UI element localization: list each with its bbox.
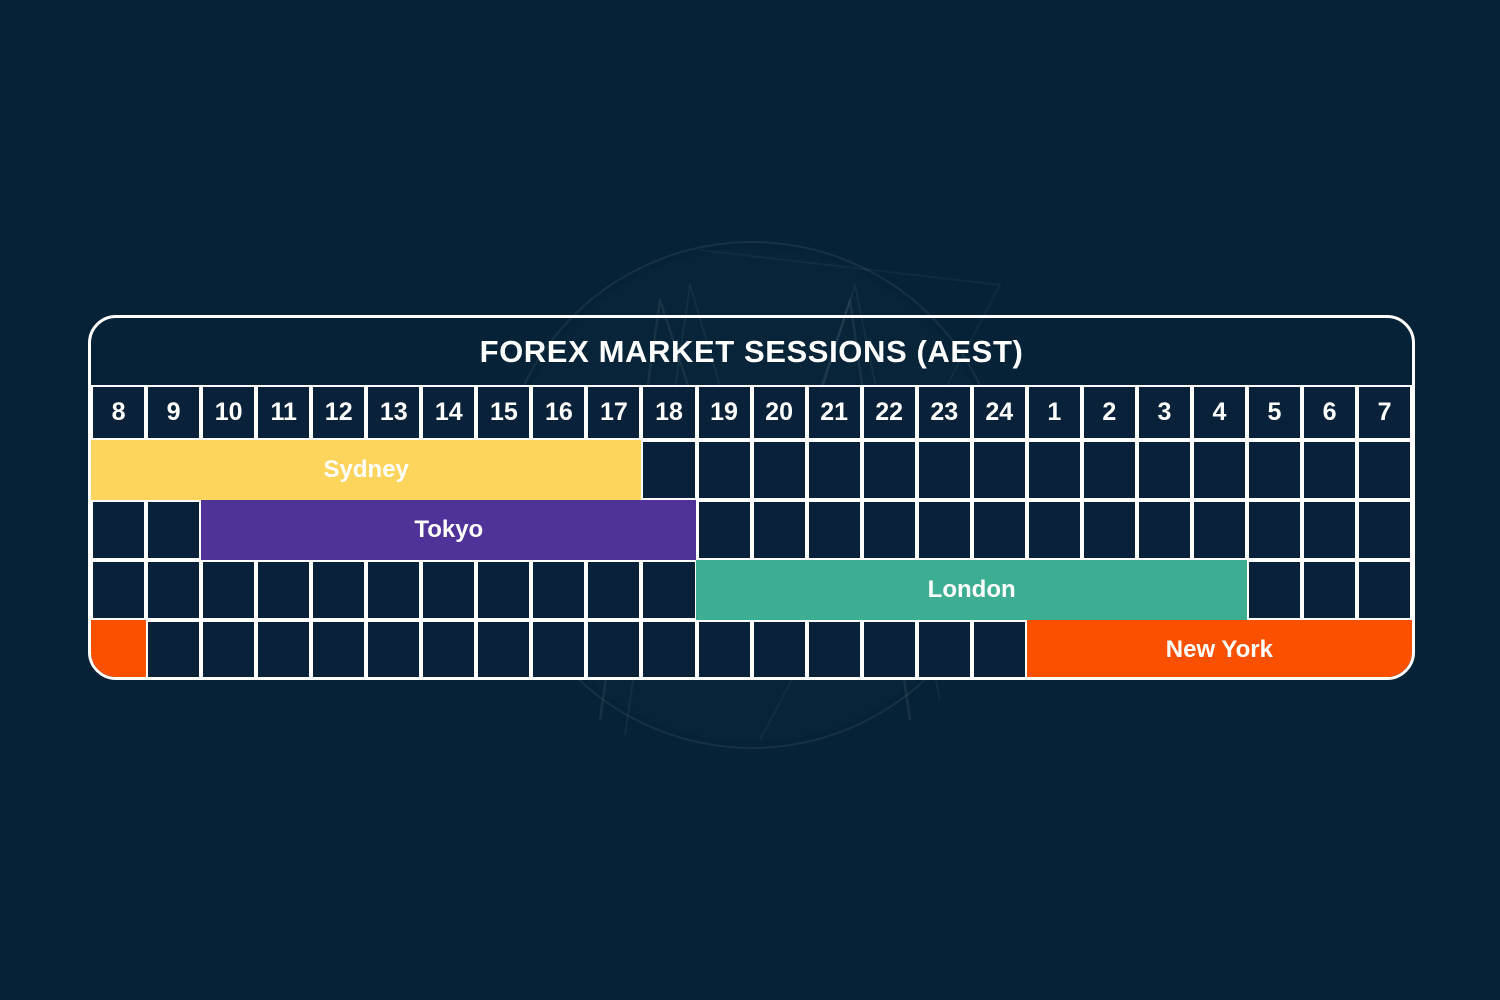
hour-header-cell: 9 xyxy=(146,385,201,440)
grid-cell xyxy=(1357,440,1412,500)
grid-cell xyxy=(972,500,1027,560)
session-bar-label: New York xyxy=(1166,636,1273,664)
grid-cell xyxy=(972,440,1027,500)
grid-cell xyxy=(917,500,972,560)
grid-cell xyxy=(641,440,696,500)
grid-cell xyxy=(146,620,201,680)
grid-cell xyxy=(91,500,146,560)
hour-header-cell: 23 xyxy=(917,385,972,440)
hour-header-cell: 8 xyxy=(91,385,146,440)
grid-cell xyxy=(531,620,586,680)
grid-cell xyxy=(1137,440,1192,500)
grid-cell xyxy=(421,620,476,680)
hour-header-cell: 1 xyxy=(1027,385,1082,440)
hour-header-cell: 6 xyxy=(1302,385,1357,440)
grid-cell xyxy=(697,440,752,500)
grid-cell xyxy=(311,620,366,680)
grid-cell xyxy=(641,620,696,680)
hour-header-cell: 20 xyxy=(752,385,807,440)
hour-header-cell: 22 xyxy=(862,385,917,440)
grid-cell xyxy=(917,440,972,500)
grid-cell xyxy=(641,560,696,620)
grid-cell xyxy=(1302,500,1357,560)
hour-header-cell: 7 xyxy=(1357,385,1412,440)
hour-header-cell: 13 xyxy=(366,385,421,440)
grid-cell xyxy=(586,620,641,680)
grid-cell xyxy=(1082,440,1137,500)
hour-header-cell: 21 xyxy=(807,385,862,440)
hour-header-cell: 18 xyxy=(641,385,696,440)
grid-cell xyxy=(697,620,752,680)
grid-cell xyxy=(1027,500,1082,560)
grid-cell xyxy=(531,560,586,620)
page-title: FOREX MARKET SESSIONS (AEST) xyxy=(91,318,1412,385)
grid-cell xyxy=(972,620,1027,680)
grid-cell xyxy=(1302,560,1357,620)
grid-cell xyxy=(586,560,641,620)
grid-cell xyxy=(1357,560,1412,620)
hour-header-cell: 19 xyxy=(697,385,752,440)
grid-cell xyxy=(256,560,311,620)
hour-header-cell: 5 xyxy=(1247,385,1302,440)
grid-cell xyxy=(862,440,917,500)
session-bar-sydney[interactable]: Sydney xyxy=(91,440,641,500)
session-bar-london[interactable]: London xyxy=(696,560,1246,620)
grid-cell xyxy=(476,620,531,680)
grid-cell xyxy=(256,620,311,680)
session-bar-label: London xyxy=(928,576,1016,604)
hour-header-cell: 15 xyxy=(476,385,531,440)
hour-header-cell: 3 xyxy=(1137,385,1192,440)
hour-header-cell: 10 xyxy=(201,385,256,440)
grid-cell xyxy=(201,620,256,680)
hour-header-cell: 17 xyxy=(586,385,641,440)
grid-cell xyxy=(862,620,917,680)
grid-cell xyxy=(697,500,752,560)
grid-cell xyxy=(1137,500,1192,560)
grid-cell xyxy=(1247,500,1302,560)
hour-header-cell: 2 xyxy=(1082,385,1137,440)
hour-header-cell: 16 xyxy=(531,385,586,440)
grid-cell xyxy=(752,500,807,560)
grid-cell xyxy=(1357,500,1412,560)
hour-header-cell: 11 xyxy=(256,385,311,440)
grid-cell xyxy=(752,440,807,500)
session-bar-new-york[interactable]: New York xyxy=(1027,620,1412,680)
grid-cell xyxy=(752,620,807,680)
grid-cell xyxy=(1247,560,1302,620)
grid-cell xyxy=(1302,440,1357,500)
hour-header-row: 891011121314151617181920212223241234567 xyxy=(91,385,1412,440)
grid-cell xyxy=(1192,440,1247,500)
session-bar-label: Sydney xyxy=(324,456,409,484)
session-bar-new-york[interactable] xyxy=(91,620,146,680)
session-bar-label: Tokyo xyxy=(414,516,483,544)
grid-cell xyxy=(1247,440,1302,500)
grid-cell xyxy=(807,620,862,680)
grid-cell xyxy=(421,560,476,620)
grid-cell xyxy=(1192,500,1247,560)
hour-header-cell: 4 xyxy=(1192,385,1247,440)
grid-cell xyxy=(311,560,366,620)
hour-header-cell: 12 xyxy=(311,385,366,440)
grid-cell xyxy=(1027,440,1082,500)
grid-cell xyxy=(366,620,421,680)
grid-cell xyxy=(917,620,972,680)
hour-header-cell: 14 xyxy=(421,385,476,440)
grid-cell xyxy=(366,560,421,620)
sessions-grid: 891011121314151617181920212223241234567 … xyxy=(91,385,1412,680)
grid-cell xyxy=(201,560,256,620)
grid-cell xyxy=(146,500,201,560)
grid-cell xyxy=(862,500,917,560)
grid-cell xyxy=(91,560,146,620)
grid-cell xyxy=(807,500,862,560)
grid-cell xyxy=(146,560,201,620)
grid-cell xyxy=(1082,500,1137,560)
hour-header-cell: 24 xyxy=(972,385,1027,440)
grid-cell xyxy=(476,560,531,620)
grid-cell xyxy=(807,440,862,500)
session-bar-tokyo[interactable]: Tokyo xyxy=(201,500,696,560)
forex-sessions-panel: FOREX MARKET SESSIONS (AEST) 89101112131… xyxy=(88,315,1415,680)
